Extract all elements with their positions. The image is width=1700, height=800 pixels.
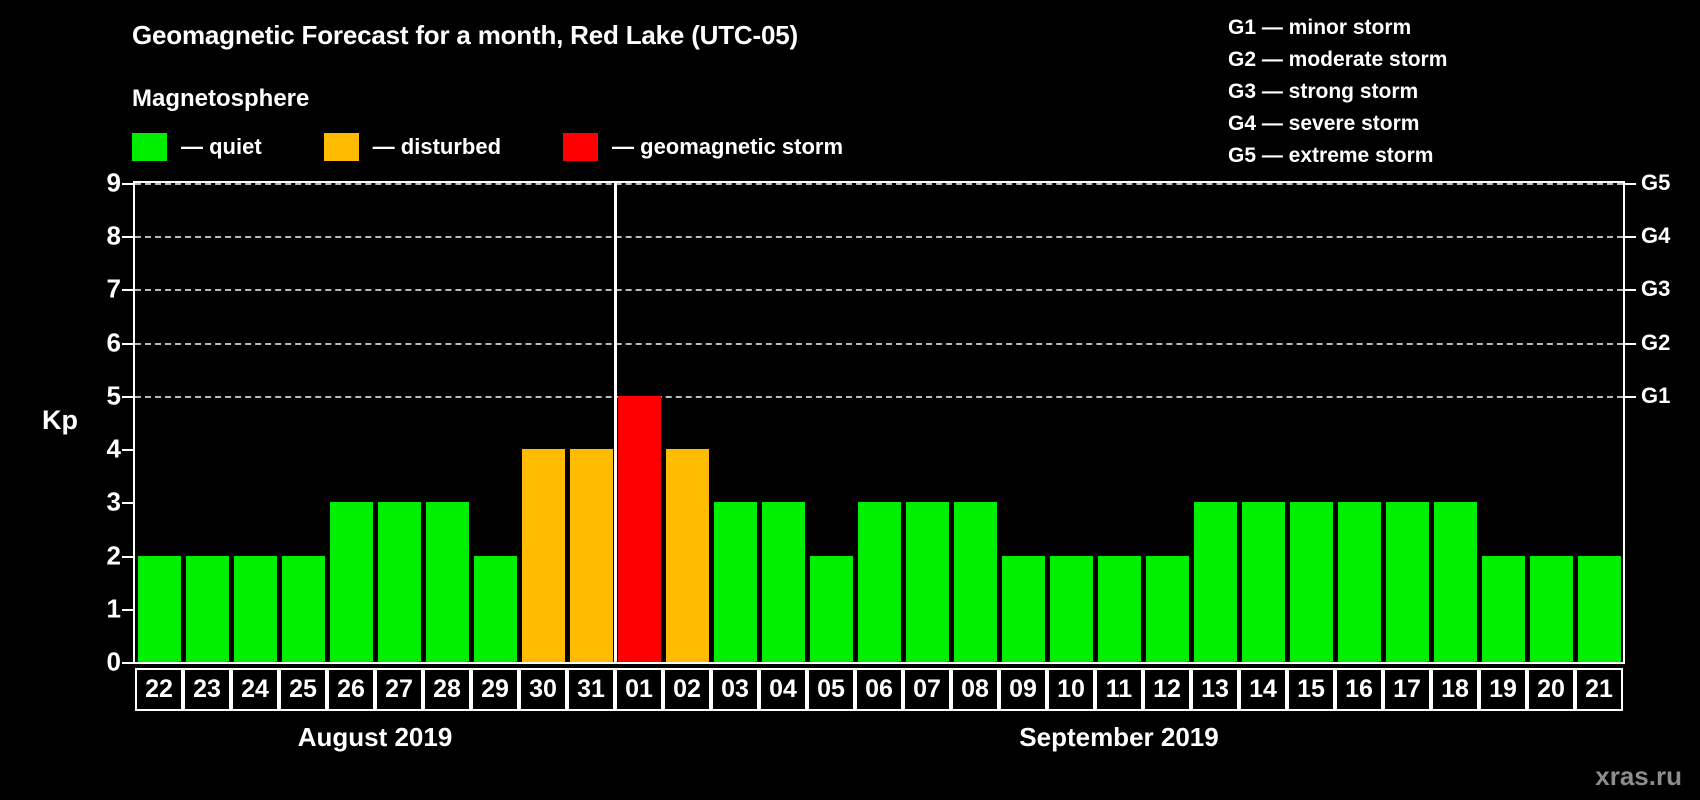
y-axis-title: Kp [42, 405, 78, 436]
bar-10[interactable] [1050, 556, 1093, 662]
bar-31[interactable] [570, 449, 613, 662]
y-tick-mark-5 [122, 396, 133, 398]
y-tick-label-5: 5 [81, 380, 121, 411]
date-cell-20[interactable]: 20 [1527, 668, 1575, 711]
legend-item-disturbed: — disturbed [324, 133, 501, 161]
chart-subtitle: Magnetosphere [132, 85, 309, 113]
date-cell-08[interactable]: 08 [951, 668, 999, 711]
bar-17[interactable] [1386, 502, 1429, 662]
legend-swatch-icon [563, 133, 598, 161]
gscale-legend-line-5: G5 — extreme storm [1228, 140, 1447, 172]
gscale-legend: G1 — minor stormG2 — moderate stormG3 — … [1228, 12, 1447, 172]
gscale-legend-line-1: G1 — minor storm [1228, 12, 1447, 44]
bar-20[interactable] [1530, 556, 1573, 662]
gridline-g2 [135, 343, 1623, 345]
date-cell-19[interactable]: 19 [1479, 668, 1527, 711]
bar-02[interactable] [666, 449, 709, 662]
date-cell-21[interactable]: 21 [1575, 668, 1623, 711]
gridline-g4 [135, 236, 1623, 238]
date-cell-16[interactable]: 16 [1335, 668, 1383, 711]
y-tick-label-0: 0 [81, 647, 121, 678]
g-tick-label-g3: G3 [1641, 276, 1670, 302]
gscale-legend-line-4: G4 — severe storm [1228, 108, 1447, 140]
y-tick-mark-1 [122, 609, 133, 611]
plot-area [133, 181, 1625, 664]
bar-06[interactable] [858, 502, 901, 662]
legend-swatch-icon [324, 133, 359, 161]
date-cell-23[interactable]: 23 [183, 668, 231, 711]
y-tick-label-2: 2 [81, 540, 121, 571]
date-cell-12[interactable]: 12 [1143, 668, 1191, 711]
magnetosphere-legend: — quiet— disturbed— geomagnetic storm [132, 133, 843, 161]
date-cell-30[interactable]: 30 [519, 668, 567, 711]
bar-28[interactable] [426, 502, 469, 662]
g-tick-mark-g3 [1625, 289, 1636, 291]
bar-15[interactable] [1290, 502, 1333, 662]
bar-05[interactable] [810, 556, 853, 662]
bar-12[interactable] [1146, 556, 1189, 662]
y-tick-label-3: 3 [81, 487, 121, 518]
bar-29[interactable] [474, 556, 517, 662]
date-cell-27[interactable]: 27 [375, 668, 423, 711]
bar-11[interactable] [1098, 556, 1141, 662]
gridline-g5 [135, 183, 1623, 185]
legend-label: — geomagnetic storm [612, 134, 843, 160]
y-tick-mark-6 [122, 343, 133, 345]
date-cell-17[interactable]: 17 [1383, 668, 1431, 711]
bar-04[interactable] [762, 502, 805, 662]
month-divider [614, 183, 617, 662]
y-tick-mark-8 [122, 236, 133, 238]
date-cell-22[interactable]: 22 [135, 668, 183, 711]
y-tick-label-7: 7 [81, 274, 121, 305]
g-tick-label-g2: G2 [1641, 330, 1670, 356]
date-cell-06[interactable]: 06 [855, 668, 903, 711]
g-tick-mark-g1 [1625, 396, 1636, 398]
bar-26[interactable] [330, 502, 373, 662]
watermark: xras.ru [1595, 761, 1682, 792]
bar-13[interactable] [1194, 502, 1237, 662]
legend-item-quiet: — quiet [132, 133, 262, 161]
date-axis: 2223242526272829303101020304050607080910… [135, 668, 1623, 711]
date-cell-14[interactable]: 14 [1239, 668, 1287, 711]
date-cell-29[interactable]: 29 [471, 668, 519, 711]
date-cell-03[interactable]: 03 [711, 668, 759, 711]
date-cell-25[interactable]: 25 [279, 668, 327, 711]
y-tick-mark-3 [122, 502, 133, 504]
date-cell-15[interactable]: 15 [1287, 668, 1335, 711]
month-label-august: August 2019 [215, 722, 535, 753]
gridline-g3 [135, 289, 1623, 291]
bar-27[interactable] [378, 502, 421, 662]
date-cell-18[interactable]: 18 [1431, 668, 1479, 711]
y-tick-mark-7 [122, 289, 133, 291]
date-cell-28[interactable]: 28 [423, 668, 471, 711]
date-cell-26[interactable]: 26 [327, 668, 375, 711]
bar-16[interactable] [1338, 502, 1381, 662]
y-tick-mark-9 [122, 183, 133, 185]
g-tick-mark-g2 [1625, 343, 1636, 345]
date-cell-13[interactable]: 13 [1191, 668, 1239, 711]
y-tick-mark-2 [122, 556, 133, 558]
legend-swatch-icon [132, 133, 167, 161]
gscale-legend-line-3: G3 — strong storm [1228, 76, 1447, 108]
y-tick-label-6: 6 [81, 327, 121, 358]
bar-07[interactable] [906, 502, 949, 662]
bar-14[interactable] [1242, 502, 1285, 662]
y-tick-label-4: 4 [81, 434, 121, 465]
g-tick-mark-g5 [1625, 183, 1636, 185]
bar-22[interactable] [138, 556, 181, 662]
date-cell-31[interactable]: 31 [567, 668, 615, 711]
g-tick-label-g5: G5 [1641, 170, 1670, 196]
date-cell-07[interactable]: 07 [903, 668, 951, 711]
date-cell-10[interactable]: 10 [1047, 668, 1095, 711]
legend-label: — quiet [181, 134, 262, 160]
legend-label: — disturbed [373, 134, 501, 160]
bar-24[interactable] [234, 556, 277, 662]
bar-09[interactable] [1002, 556, 1045, 662]
date-cell-04[interactable]: 04 [759, 668, 807, 711]
page-title: Geomagnetic Forecast for a month, Red La… [132, 20, 798, 51]
legend-item-geomagneticstorm: — geomagnetic storm [563, 133, 843, 161]
y-tick-mark-4 [122, 449, 133, 451]
bar-23[interactable] [186, 556, 229, 662]
y-tick-label-8: 8 [81, 221, 121, 252]
gridline-g1 [135, 396, 1623, 398]
date-cell-09[interactable]: 09 [999, 668, 1047, 711]
bar-03[interactable] [714, 502, 757, 662]
date-cell-01[interactable]: 01 [615, 668, 663, 711]
bar-08[interactable] [954, 502, 997, 662]
date-cell-05[interactable]: 05 [807, 668, 855, 711]
bar-30[interactable] [522, 449, 565, 662]
chart-root: Geomagnetic Forecast for a month, Red La… [0, 0, 1700, 800]
month-label-september: September 2019 [959, 722, 1279, 753]
g-tick-label-g1: G1 [1641, 383, 1670, 409]
date-cell-11[interactable]: 11 [1095, 668, 1143, 711]
y-tick-label-9: 9 [81, 168, 121, 199]
date-cell-02[interactable]: 02 [663, 668, 711, 711]
bar-25[interactable] [282, 556, 325, 662]
y-tick-label-1: 1 [81, 593, 121, 624]
bar-18[interactable] [1434, 502, 1477, 662]
g-tick-mark-g4 [1625, 236, 1636, 238]
bar-21[interactable] [1578, 556, 1621, 662]
g-tick-label-g4: G4 [1641, 223, 1670, 249]
gscale-legend-line-2: G2 — moderate storm [1228, 44, 1447, 76]
bar-01[interactable] [618, 396, 661, 662]
date-cell-24[interactable]: 24 [231, 668, 279, 711]
y-tick-mark-0 [122, 662, 133, 664]
bar-19[interactable] [1482, 556, 1525, 662]
